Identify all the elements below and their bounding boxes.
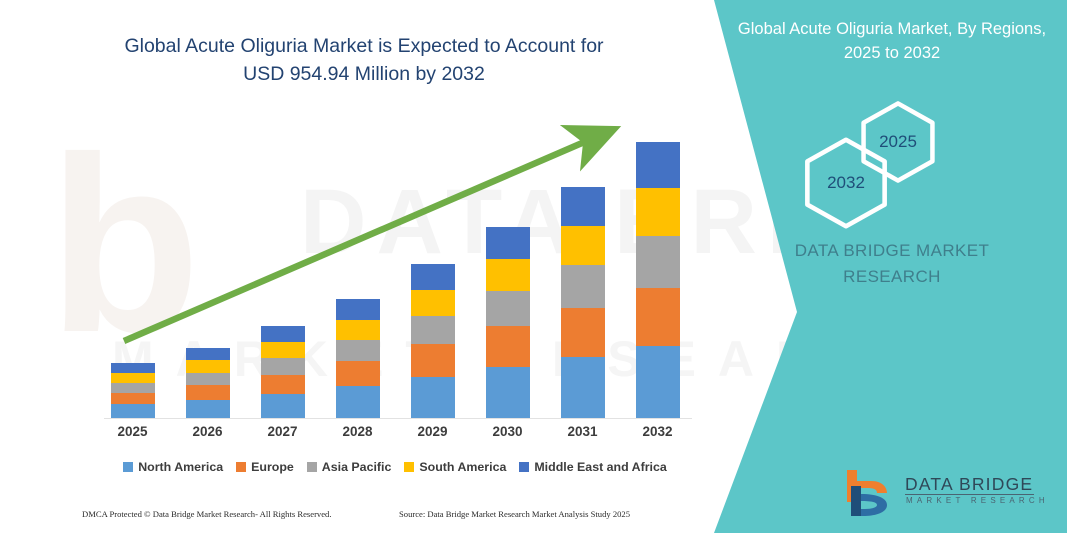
legend-item[interactable]: Middle East and Africa bbox=[519, 460, 666, 474]
side-panel: Global Acute Oliguria Market, By Regions… bbox=[707, 0, 1067, 533]
legend-swatch-icon bbox=[236, 462, 246, 472]
bar-2032 bbox=[636, 142, 680, 418]
bar-segment bbox=[336, 320, 380, 340]
x-axis-tick-2031: 2031 bbox=[553, 424, 613, 439]
panel-brand-text: DATA BRIDGE MARKET RESEARCH bbox=[747, 238, 1037, 289]
dbmr-logo: DATA BRIDGE MARKET RESEARCH bbox=[837, 468, 1037, 520]
bar-segment bbox=[261, 326, 305, 342]
legend-item[interactable]: South America bbox=[404, 460, 506, 474]
bar-segment bbox=[636, 236, 680, 288]
bar-segment bbox=[411, 290, 455, 316]
bar-segment bbox=[561, 265, 605, 308]
x-axis-labels: 20252026202720282029203020312032 bbox=[95, 424, 695, 444]
legend-swatch-icon bbox=[519, 462, 529, 472]
bar-segment bbox=[261, 394, 305, 418]
legend-label: Europe bbox=[251, 460, 294, 474]
bar-2031 bbox=[561, 187, 605, 418]
x-axis-tick-2028: 2028 bbox=[328, 424, 388, 439]
x-axis-tick-2025: 2025 bbox=[103, 424, 163, 439]
bar-segment bbox=[411, 377, 455, 418]
bar-segment bbox=[111, 383, 155, 393]
x-axis-tick-2029: 2029 bbox=[403, 424, 463, 439]
legend-swatch-icon bbox=[404, 462, 414, 472]
bar-2027 bbox=[261, 326, 305, 418]
x-axis-line bbox=[104, 418, 692, 419]
bar-segment bbox=[411, 264, 455, 290]
bar-segment bbox=[561, 187, 605, 225]
dbmr-logo-tagline: MARKET RESEARCH bbox=[906, 496, 1049, 505]
side-panel-title: Global Acute Oliguria Market, By Regions… bbox=[737, 18, 1047, 66]
bar-2028 bbox=[336, 299, 380, 418]
hexagon-badge-start-year: 2025 bbox=[857, 101, 939, 183]
bar-2026 bbox=[186, 348, 230, 418]
legend-item[interactable]: Asia Pacific bbox=[307, 460, 392, 474]
dbmr-logo-name: DATA BRIDGE bbox=[905, 474, 1033, 495]
bar-segment bbox=[186, 373, 230, 385]
x-axis-tick-2027: 2027 bbox=[253, 424, 313, 439]
legend-item[interactable]: Europe bbox=[236, 460, 294, 474]
bar-segment bbox=[486, 326, 530, 367]
bar-segment bbox=[561, 308, 605, 357]
hexagon-end-year-label: 2032 bbox=[827, 173, 865, 193]
bar-segment bbox=[636, 288, 680, 346]
bar-2029 bbox=[411, 264, 455, 418]
chart-legend: North AmericaEuropeAsia PacificSouth Ame… bbox=[95, 460, 695, 474]
legend-label: North America bbox=[138, 460, 223, 474]
bar-segment bbox=[261, 342, 305, 358]
dbmr-logo-icon bbox=[837, 468, 901, 518]
legend-label: Middle East and Africa bbox=[534, 460, 666, 474]
legend-label: Asia Pacific bbox=[322, 460, 392, 474]
bar-segment bbox=[411, 344, 455, 377]
bar-2030 bbox=[486, 227, 530, 418]
bar-segment bbox=[636, 346, 680, 418]
legend-swatch-icon bbox=[123, 462, 133, 472]
hexagon-start-year-label: 2025 bbox=[879, 132, 917, 152]
stacked-bar-chart bbox=[95, 100, 695, 418]
bar-segment bbox=[336, 386, 380, 418]
x-axis-tick-2032: 2032 bbox=[628, 424, 688, 439]
bar-segment bbox=[261, 375, 305, 394]
bar-segment bbox=[561, 357, 605, 418]
bar-segment bbox=[486, 367, 530, 418]
bar-segment bbox=[111, 373, 155, 383]
legend-label: South America bbox=[419, 460, 506, 474]
bar-segment bbox=[486, 227, 530, 259]
bar-segment bbox=[486, 259, 530, 292]
bar-segment bbox=[186, 385, 230, 400]
bar-segment bbox=[111, 393, 155, 404]
bar-segment bbox=[261, 358, 305, 375]
bar-segment bbox=[636, 188, 680, 236]
bar-segment bbox=[186, 400, 230, 418]
bar-segment bbox=[186, 348, 230, 360]
bar-segment bbox=[636, 142, 680, 188]
dbmr-logo-divider bbox=[905, 494, 1034, 495]
x-axis-tick-2026: 2026 bbox=[178, 424, 238, 439]
footer-copyright: DMCA Protected © Data Bridge Market Rese… bbox=[82, 509, 332, 519]
legend-item[interactable]: North America bbox=[123, 460, 223, 474]
footer: DMCA Protected © Data Bridge Market Rese… bbox=[0, 506, 712, 528]
page-title: Global Acute Oliguria Market is Expected… bbox=[104, 33, 624, 88]
bar-segment bbox=[336, 340, 380, 361]
bar-segment bbox=[486, 291, 530, 326]
legend-swatch-icon bbox=[307, 462, 317, 472]
footer-source: Source: Data Bridge Market Research Mark… bbox=[399, 509, 630, 519]
infographic-canvas: b DATA BRIDGE MARKET RESEARCH Global Acu… bbox=[0, 0, 1067, 533]
bar-segment bbox=[561, 226, 605, 266]
bar-2025 bbox=[111, 363, 155, 418]
x-axis-tick-2030: 2030 bbox=[478, 424, 538, 439]
bar-segment bbox=[111, 404, 155, 418]
bar-segment bbox=[186, 360, 230, 372]
bar-segment bbox=[336, 361, 380, 386]
bar-segment bbox=[336, 299, 380, 319]
bar-segment bbox=[411, 316, 455, 344]
bar-segment bbox=[111, 363, 155, 373]
